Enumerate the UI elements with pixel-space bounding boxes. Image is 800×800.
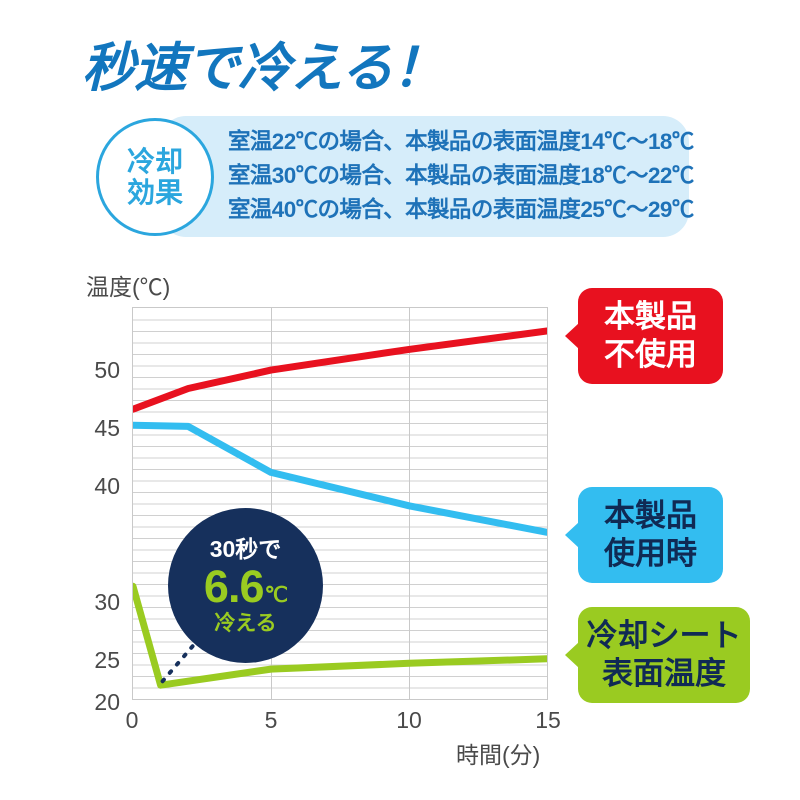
cooling-effect-text-list: 室温22℃の場合、本製品の表面温度14℃〜18℃ 室温30℃の場合、本製品の表面… bbox=[228, 126, 694, 226]
callout-red-line1: 本製品 bbox=[604, 298, 697, 336]
y-tick-45: 45 bbox=[74, 415, 120, 442]
y-tick-25: 25 bbox=[74, 647, 120, 674]
badge-top-text: 30秒で bbox=[210, 538, 282, 561]
cooling-effect-badge-label: 冷却 効果 bbox=[99, 121, 211, 233]
callout-blue-line2: 使用時 bbox=[604, 535, 697, 573]
x-tick-5: 5 bbox=[251, 707, 291, 734]
callout-tail-icon bbox=[565, 642, 579, 668]
callout-green-line1: 冷却シート bbox=[587, 617, 742, 655]
x-tick-10: 10 bbox=[389, 707, 429, 734]
y-tick-40: 40 bbox=[74, 473, 120, 500]
series-line-with-product bbox=[133, 425, 547, 532]
y-tick-30: 30 bbox=[74, 589, 120, 616]
x-tick-0: 0 bbox=[112, 707, 152, 734]
callout-red-line2: 不使用 bbox=[604, 336, 697, 374]
x-axis-title: 時間(分) bbox=[456, 736, 540, 770]
cooling-effect-badge-line1: 冷却 bbox=[127, 146, 183, 177]
cooling-effect-line-3: 室温40℃の場合、本製品の表面温度25℃〜29℃ bbox=[228, 194, 694, 226]
cooling-effect-badge-line2: 効果 bbox=[127, 177, 183, 208]
callout-tail-icon bbox=[565, 323, 579, 349]
badge-unit: ℃ bbox=[264, 585, 287, 606]
legend-callout-with-product: 本製品 使用時 bbox=[578, 487, 723, 583]
badge-value: 6.6 bbox=[204, 564, 264, 609]
legend-callout-without-product: 本製品 不使用 bbox=[578, 288, 723, 384]
cooling-effect-line-2: 室温30℃の場合、本製品の表面温度18℃〜22℃ bbox=[228, 160, 694, 192]
cooling-effect-line-1: 室温22℃の場合、本製品の表面温度14℃〜18℃ bbox=[228, 126, 694, 158]
legend-callout-cooling-sheet: 冷却シート 表面温度 bbox=[578, 607, 750, 703]
x-tick-15: 15 bbox=[528, 707, 568, 734]
badge-bottom-text: 冷える bbox=[214, 613, 276, 634]
callout-tail-icon bbox=[565, 522, 579, 548]
callout-blue-line1: 本製品 bbox=[604, 497, 697, 535]
y-axis-title: 温度(℃) bbox=[86, 268, 170, 302]
temperature-chart: 温度(℃) 時間(分) 50 45 40 30 25 20 0 5 10 15 … bbox=[0, 0, 800, 800]
callout-green-line2: 表面温度 bbox=[602, 655, 726, 693]
y-tick-50: 50 bbox=[74, 357, 120, 384]
cooling-effect-badge: 冷却 効果 bbox=[96, 118, 214, 236]
badge-value-group: 6.6 ℃ bbox=[204, 564, 287, 609]
cooling-speed-badge: 30秒で 6.6 ℃ 冷える bbox=[168, 508, 323, 663]
